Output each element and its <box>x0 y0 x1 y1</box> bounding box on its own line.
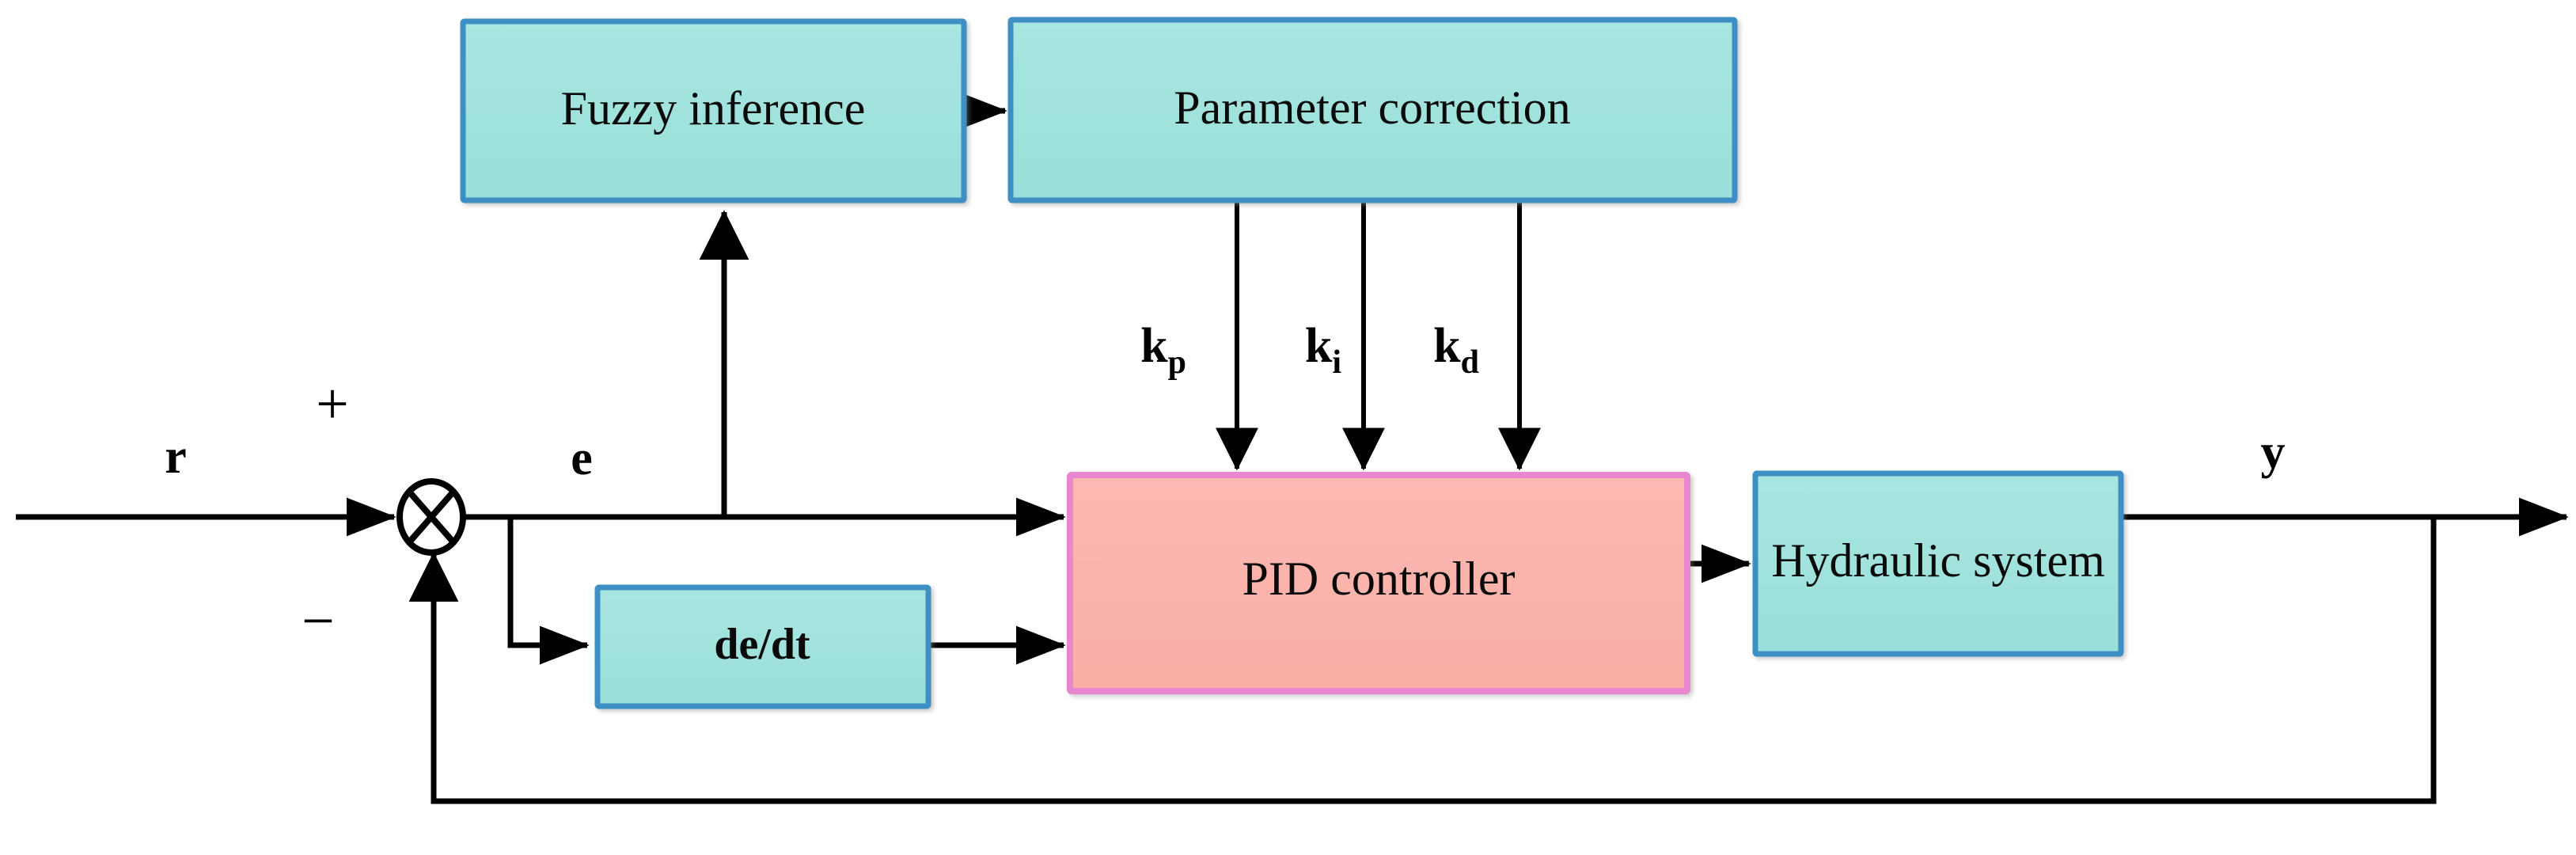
block-pid-controller[interactable]: PID controller <box>1070 475 1687 691</box>
block-fuzzy-inference-label: Fuzzy inference <box>561 82 866 135</box>
block-fuzzy-inference[interactable]: Fuzzy inference <box>463 21 964 200</box>
gain-label-kp-base: k <box>1140 319 1168 373</box>
block-diagram-svg: Fuzzy inference Parameter correction de/… <box>0 0 2576 855</box>
signal-label-plus: + <box>316 372 349 437</box>
gain-label-ki-base: k <box>1305 319 1333 373</box>
block-pid-controller-label: PID controller <box>1242 553 1516 605</box>
block-derivative[interactable]: de/dt <box>598 587 928 706</box>
block-parameter-correction[interactable]: Parameter correction <box>1011 20 1735 200</box>
signal-label-reference: r <box>165 430 187 484</box>
block-hydraulic-system[interactable]: Hydraulic system <box>1755 473 2121 654</box>
summing-junction[interactable] <box>400 481 463 553</box>
gain-label-kd-sub: d <box>1461 344 1479 381</box>
block-diagram-canvas: Fuzzy inference Parameter correction de/… <box>0 0 2576 855</box>
wire-error-to-derivative <box>510 519 587 645</box>
gain-label-ki-sub: i <box>1332 344 1341 381</box>
gain-label-kp-sub: p <box>1168 344 1186 381</box>
signal-label-minus: − <box>302 589 335 654</box>
gain-label-kp: kp <box>1140 319 1186 380</box>
gain-label-kd: kd <box>1433 319 1479 380</box>
block-derivative-label: de/dt <box>714 620 810 669</box>
svg-text:ki: ki <box>1305 319 1341 380</box>
gain-label-ki: ki <box>1305 319 1341 380</box>
svg-text:kp: kp <box>1140 319 1186 380</box>
gain-label-kd-base: k <box>1433 319 1461 373</box>
signal-label-error: e <box>571 431 593 485</box>
block-parameter-correction-label: Parameter correction <box>1174 82 1570 134</box>
block-hydraulic-system-label: Hydraulic system <box>1771 534 2105 587</box>
svg-text:kd: kd <box>1433 319 1479 380</box>
signal-label-output: y <box>2261 425 2286 479</box>
